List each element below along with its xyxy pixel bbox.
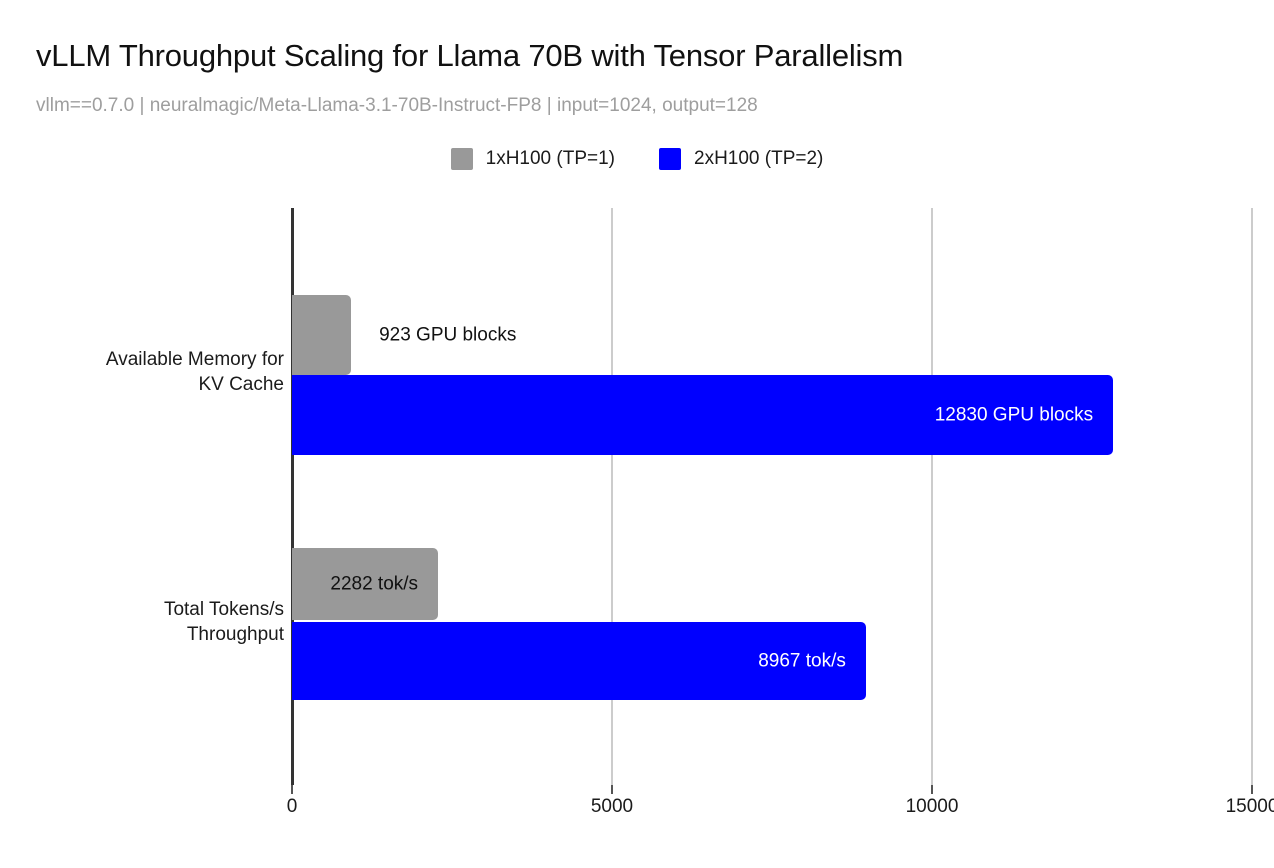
- x-tick-mark-0: [291, 785, 293, 794]
- x-tick-mark-10000: [931, 785, 933, 794]
- x-tick-label-5000: 5000: [591, 796, 633, 818]
- chart-plot-area: 0 5000 10000 15000 Available Memory for …: [0, 0, 1274, 868]
- x-tick-label-10000: 10000: [906, 796, 959, 818]
- gridline-10000: [931, 208, 933, 785]
- category-label-throughput-line1: Total Tokens/s: [0, 597, 284, 622]
- x-tick-mark-15000: [1251, 785, 1253, 794]
- gridline-15000: [1251, 208, 1253, 785]
- bar-kv-cache-tp1[interactable]: [292, 295, 351, 375]
- category-label-kv-cache-line1: Available Memory for: [0, 347, 284, 372]
- category-label-kv-cache-line2: KV Cache: [0, 372, 284, 397]
- category-label-throughput: Total Tokens/s Throughput: [0, 597, 284, 647]
- bar-label-throughput-tp2: 8967 tok/s: [758, 652, 846, 671]
- category-label-kv-cache: Available Memory for KV Cache: [0, 347, 284, 397]
- category-label-throughput-line2: Throughput: [0, 622, 284, 647]
- bar-label-kv-cache-tp1: 923 GPU blocks: [379, 326, 516, 345]
- x-tick-mark-5000: [611, 785, 613, 794]
- x-tick-label-0: 0: [287, 796, 298, 818]
- bar-label-kv-cache-tp2: 12830 GPU blocks: [935, 406, 1093, 425]
- bar-label-throughput-tp1: 2282 tok/s: [330, 575, 418, 594]
- x-tick-label-15000: 15000: [1226, 796, 1274, 818]
